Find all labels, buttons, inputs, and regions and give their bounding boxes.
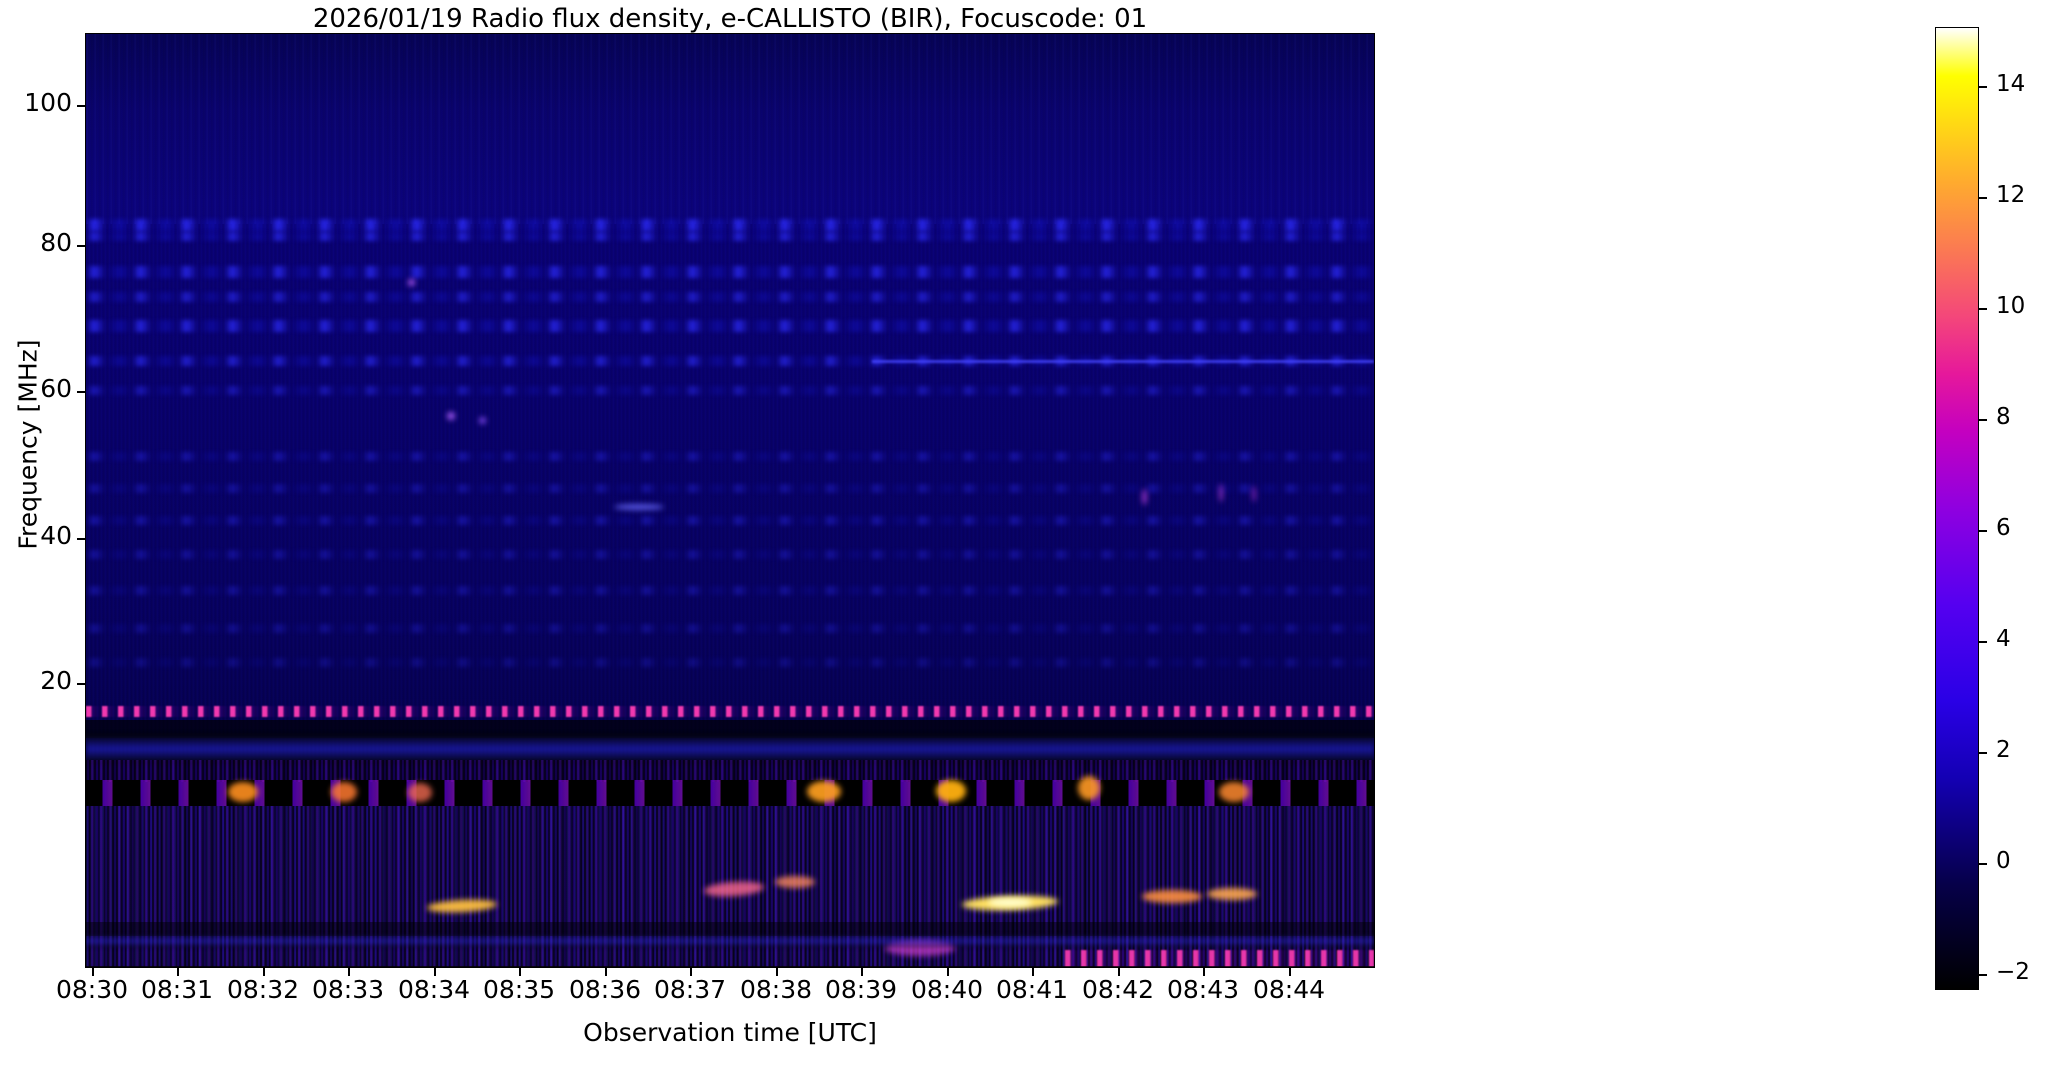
- burst-25mhz-c: [408, 783, 432, 802]
- speck-a: [408, 279, 415, 286]
- colorbar-tick-mark: [1979, 752, 1987, 754]
- burst-25mhz-b: [331, 782, 357, 802]
- colorbar-tick-mark: [1979, 863, 1987, 865]
- burst-0838: [775, 876, 815, 888]
- fringe-band-49mhz: [86, 516, 1374, 525]
- y-tick-mark: [77, 105, 85, 107]
- fringe-band-46mhz: [86, 550, 1374, 559]
- faint-line-14mhz: [86, 934, 1374, 948]
- speckle-band-26mhz: [86, 760, 1374, 782]
- y-tick-label: 100: [0, 88, 72, 117]
- figure-canvas: 2026/01/19 Radio flux density, e-CALLIST…: [0, 0, 2066, 1067]
- x-tick-label: 08:44: [1224, 975, 1354, 1004]
- fringe-band-52mhz: [86, 484, 1374, 493]
- y-tick-mark: [77, 683, 85, 685]
- y-tick-label: 60: [0, 374, 72, 403]
- page-title: 2026/01/19 Radio flux density, e-CALLIST…: [0, 4, 1460, 34]
- fringe-band-37mhz: [86, 658, 1374, 667]
- dashed-rfi-row-25mhz: [86, 780, 1374, 806]
- colorbar-tick-label: 8: [1996, 404, 2011, 430]
- speck-b: [447, 412, 455, 420]
- fringe-band-80mhz: [86, 219, 1374, 231]
- burst-25mhz-e: [936, 780, 966, 802]
- fringe-band-55mhz: [86, 452, 1374, 461]
- fringe-band-74mhz: [86, 292, 1374, 302]
- colorbar-tick-mark: [1979, 530, 1987, 532]
- burst-25mhz-f: [1078, 776, 1100, 800]
- colorbar-tick-mark: [1979, 419, 1987, 421]
- horizontal-rfi-line-67mhz: [872, 360, 1374, 363]
- burst-0843-a: [1142, 890, 1202, 903]
- x-axis-label: Observation time [UTC]: [85, 1018, 1375, 1047]
- speck-f: [1252, 486, 1256, 502]
- colorbar-tick-label: 6: [1996, 515, 2011, 541]
- colorbar-tick-label: 12: [1996, 182, 2025, 208]
- colorbar-tick-mark: [1979, 197, 1987, 199]
- colorbar-tick-label: −2: [1996, 959, 2030, 985]
- colorbar-tick-label: 14: [1996, 71, 2025, 97]
- fringe-band-76mhz: [86, 266, 1374, 278]
- burst-0843-b: [1207, 888, 1257, 900]
- colorbar-gradient[interactable]: [1935, 27, 1979, 990]
- bottom-edge-band: [86, 966, 1374, 968]
- rfi-comb-32mhz: [86, 706, 1374, 717]
- y-tick-mark: [77, 538, 85, 540]
- fringe-band-71mhz: [86, 320, 1374, 332]
- y-tick-mark: [77, 391, 85, 393]
- fringe-band-79mhz: [86, 232, 1374, 241]
- spectrogram-image: [86, 34, 1374, 967]
- colorbar-tick-mark: [1979, 974, 1987, 976]
- y-tick-mark: [77, 245, 85, 247]
- colorbar-tick-label: 2: [1996, 737, 2011, 763]
- colorbar-tick-mark: [1979, 641, 1987, 643]
- colorbar-tick-label: 10: [1996, 293, 2025, 319]
- y-tick-label: 40: [0, 521, 72, 550]
- colorbar-tick-label: 0: [1996, 848, 2011, 874]
- fringe-band-40mhz: [86, 624, 1374, 633]
- speck-c: [479, 417, 486, 424]
- vertical-streak-texture-top: [86, 34, 1374, 224]
- spectrogram-plot[interactable]: [85, 33, 1375, 968]
- short-feature-50mhz: [614, 504, 664, 510]
- colorbar-tick-label: 4: [1996, 626, 2011, 652]
- y-tick-label: 80: [0, 228, 72, 257]
- burst-25mhz-a: [228, 782, 258, 802]
- y-tick-label: 20: [0, 666, 72, 695]
- fringe-band-43mhz: [86, 586, 1374, 595]
- colorbar-tick-mark: [1979, 308, 1987, 310]
- bright-burst-core-0841: [988, 898, 1032, 907]
- fringe-band-65mhz: [86, 386, 1374, 395]
- colorbar-tick-mark: [1979, 86, 1987, 88]
